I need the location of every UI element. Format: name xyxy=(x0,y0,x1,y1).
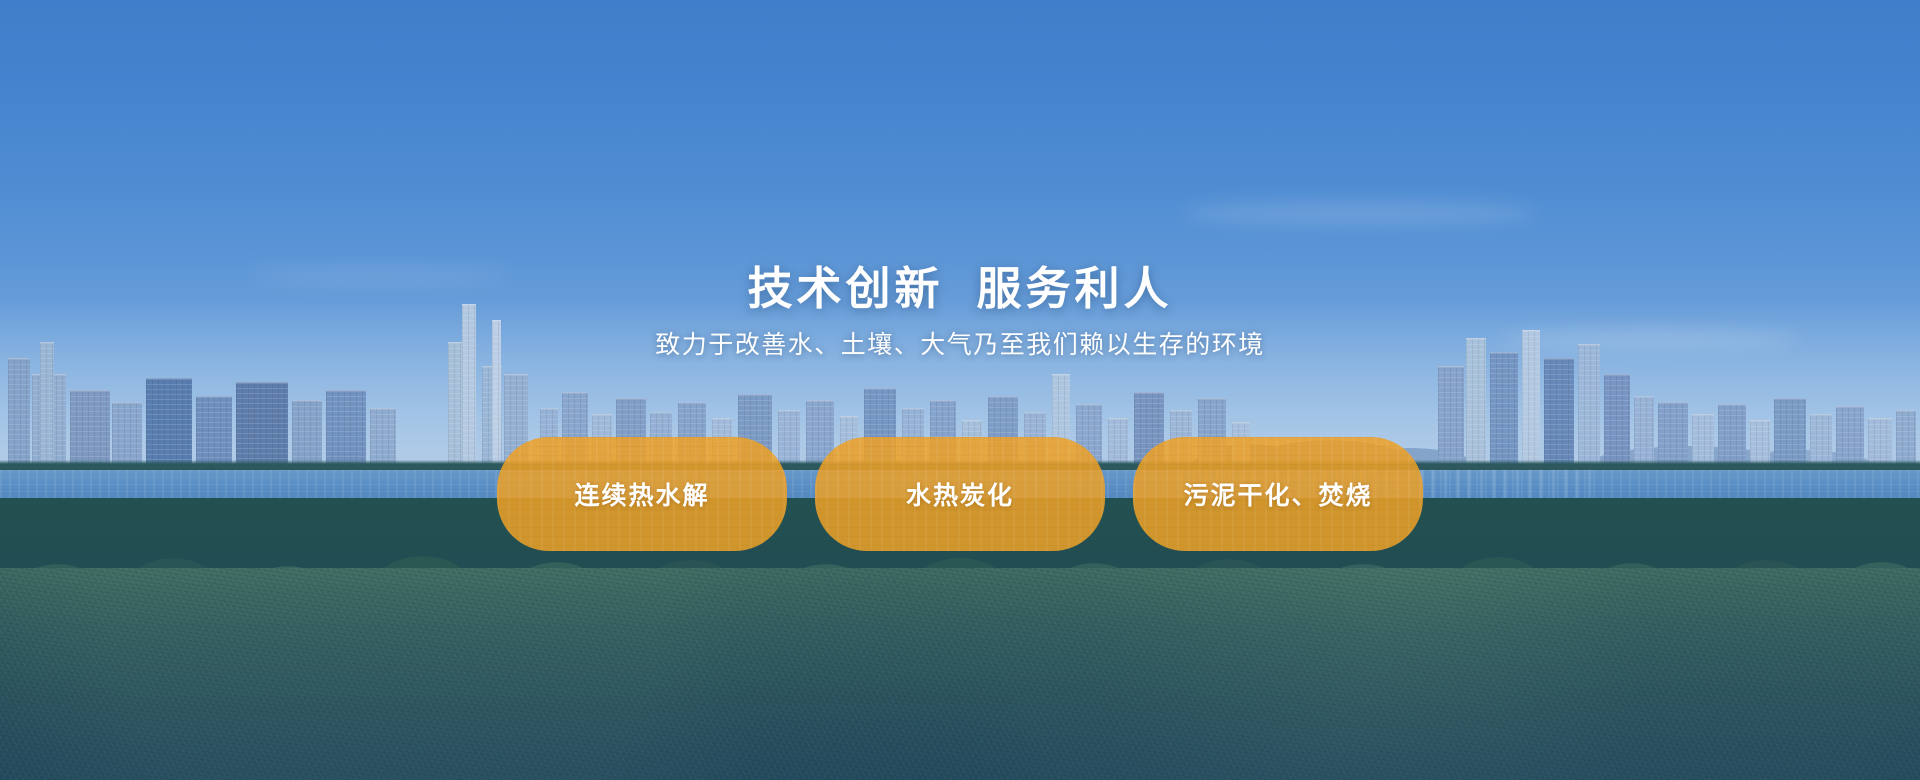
service-button-label: 连续热水解 xyxy=(574,476,709,512)
hero-banner: 技术创新 服务利人 致力于改善水、土壤、大气乃至我们赖以生存的环境 连续热水解 … xyxy=(0,0,1920,780)
service-button-continuous-thermal-hydrolysis[interactable]: 连续热水解 xyxy=(497,437,787,551)
service-button-row: 连续热水解 水热炭化 污泥干化、焚烧 xyxy=(497,437,1423,551)
hero-title: 技术创新 服务利人 xyxy=(747,262,1172,315)
service-button-hydrothermal-carbonization[interactable]: 水热炭化 xyxy=(815,437,1105,551)
service-button-label: 水热炭化 xyxy=(906,476,1014,512)
service-button-sludge-drying-incineration[interactable]: 污泥干化、焚烧 xyxy=(1133,437,1423,551)
hero-content: 技术创新 服务利人 致力于改善水、土壤、大气乃至我们赖以生存的环境 连续热水解 … xyxy=(0,0,1920,780)
service-button-label: 污泥干化、焚烧 xyxy=(1183,476,1372,512)
hero-subtitle: 致力于改善水、土壤、大气乃至我们赖以生存的环境 xyxy=(655,329,1265,362)
